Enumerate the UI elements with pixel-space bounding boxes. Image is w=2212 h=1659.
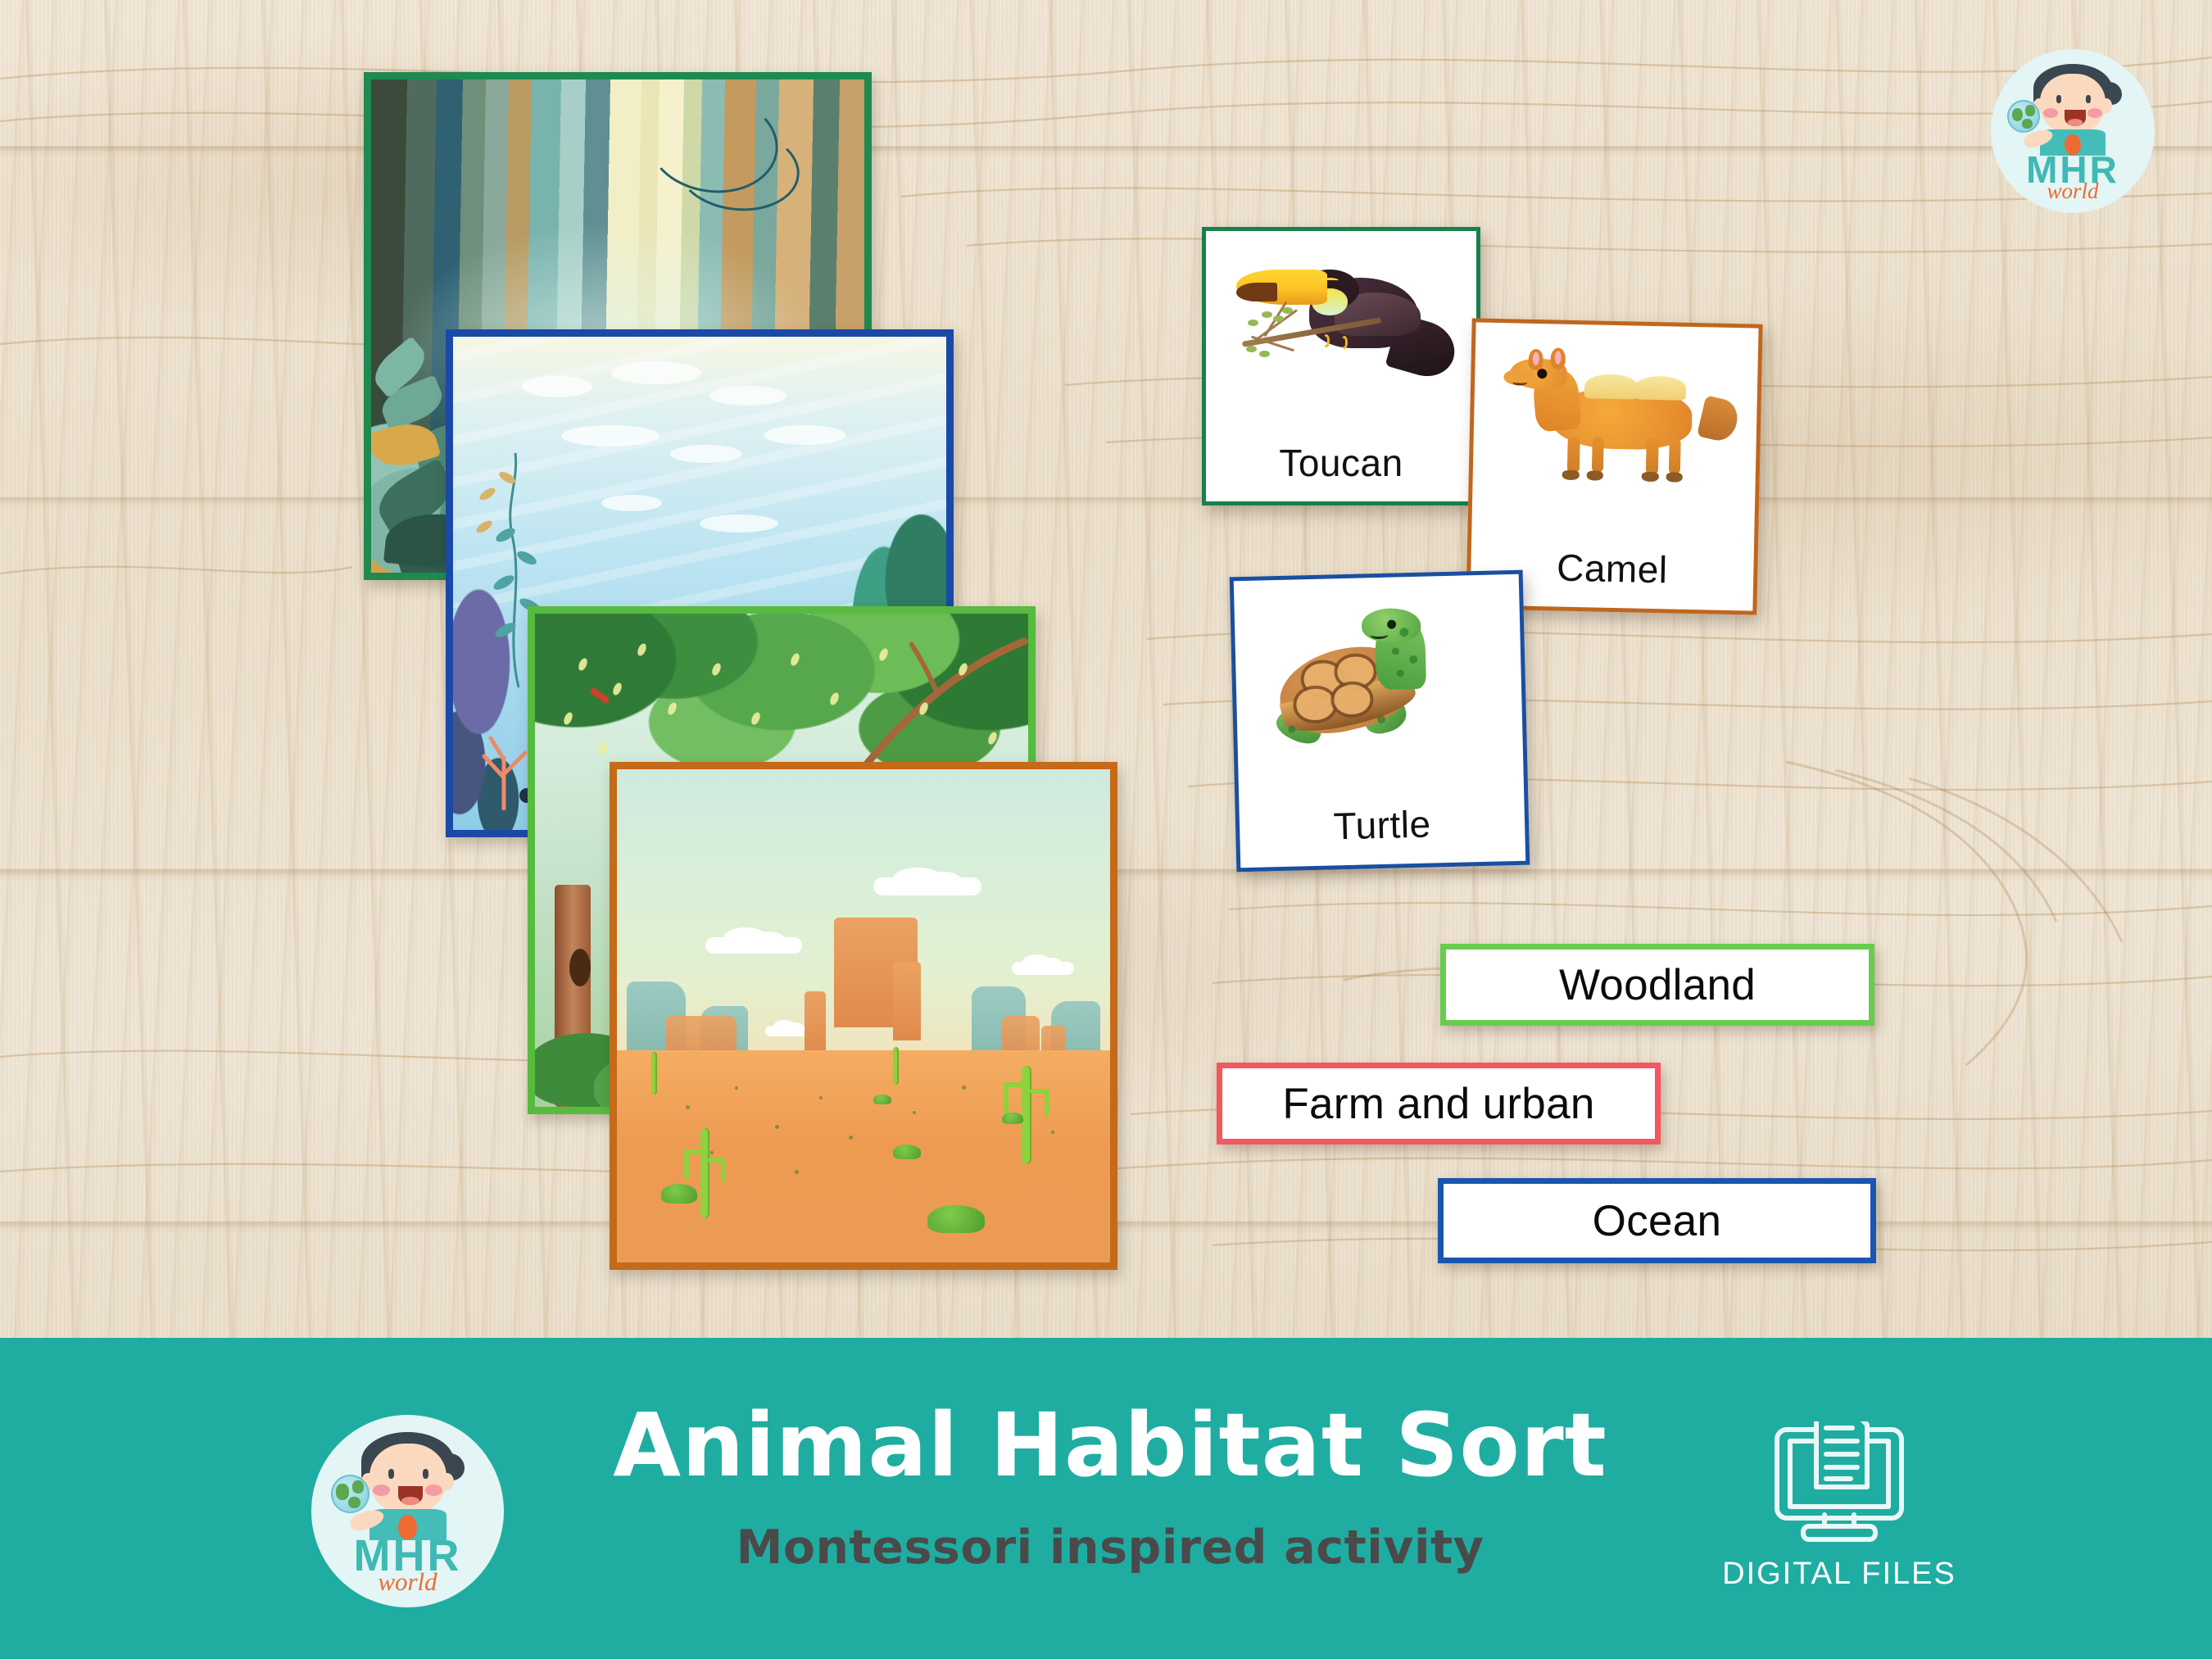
- digital-files-label: DIGITAL FILES: [1688, 1557, 1991, 1592]
- mhr-world-logo-bottom: MHR world: [311, 1415, 504, 1607]
- habitat-label-ocean[interactable]: Ocean: [1438, 1178, 1876, 1263]
- turtle-illustration: [1234, 586, 1524, 787]
- monitor-document-icon: [1767, 1421, 1911, 1543]
- habitat-label-text: Woodland: [1559, 960, 1756, 1010]
- digital-files-badge: DIGITAL FILES: [1688, 1421, 1991, 1592]
- toucan-illustration: [1206, 242, 1476, 425]
- product-title: Animal Habitat Sort: [573, 1403, 1647, 1490]
- animal-card-label: Turtle: [1239, 800, 1525, 850]
- desert-scene: [617, 769, 1110, 1262]
- logo-brand-tagline: world: [1991, 179, 2155, 204]
- animal-card-turtle[interactable]: Turtle: [1230, 570, 1530, 873]
- habitat-label-farm-and-urban[interactable]: Farm and urban: [1217, 1063, 1661, 1145]
- product-subtitle: Montessori inspired activity: [573, 1525, 1647, 1571]
- animal-card-toucan[interactable]: Toucan: [1202, 227, 1480, 505]
- animal-card-label: Toucan: [1206, 441, 1476, 485]
- habitat-label-woodland[interactable]: Woodland: [1440, 944, 1874, 1026]
- logo-brand-tagline: world: [311, 1567, 504, 1597]
- camel-illustration: [1471, 333, 1758, 532]
- habitat-label-text: Farm and urban: [1282, 1079, 1594, 1129]
- habitat-label-text: Ocean: [1593, 1196, 1722, 1246]
- habitat-mat-desert[interactable]: [610, 762, 1117, 1270]
- mhr-world-logo-top: MHR world: [1991, 49, 2155, 213]
